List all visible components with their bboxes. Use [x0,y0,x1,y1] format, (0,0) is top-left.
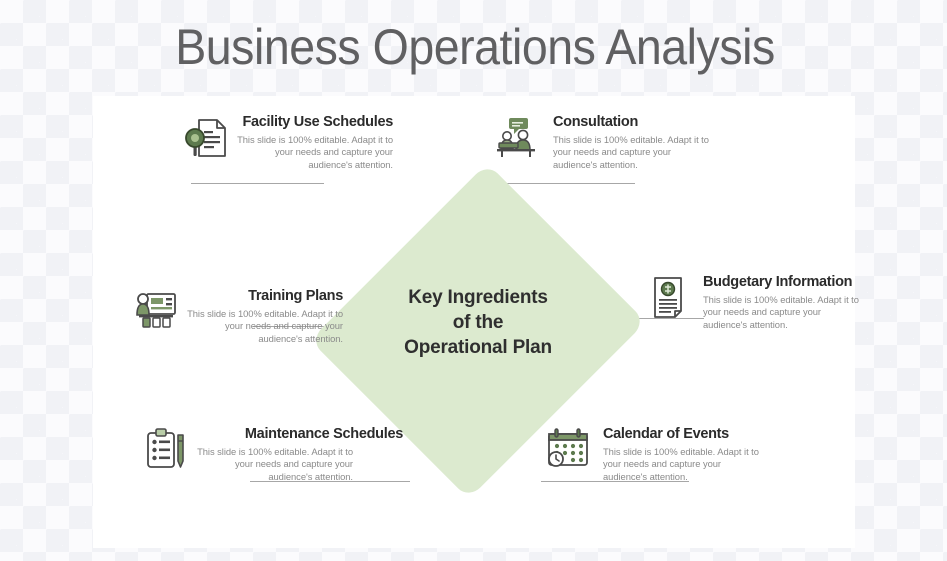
calendar-clock-icon [541,426,595,474]
node-text-block: Calendar of Events This slide is 100% ed… [603,426,763,483]
node-text-block: Budgetary Information This slide is 100%… [703,274,863,331]
slide-card: Key Ingredients of the Operational Plan … [93,96,855,548]
budget-document-icon [641,274,695,322]
document-search-icon [179,114,233,162]
diamond-label: Key Ingredients of the Operational Plan [335,285,621,360]
diamond-label-line-3: Operational Plan [335,335,621,360]
node-description: This slide is 100% editable. Adapt it to… [233,134,393,171]
node-budgetary-information[interactable]: Budgetary Information This slide is 100%… [641,274,863,331]
node-text-block: Facility Use Schedules This slide is 100… [233,114,393,171]
node-title: Consultation [553,114,713,131]
node-facility-use-schedules[interactable]: Facility Use Schedules This slide is 100… [171,114,393,171]
node-description: This slide is 100% editable. Adapt it to… [553,134,713,171]
connector-line-facility [191,183,324,184]
node-title: Maintenance Schedules [193,426,403,443]
node-title: Training Plans [183,288,343,305]
node-calendar-of-events[interactable]: Calendar of Events This slide is 100% ed… [541,426,763,483]
diamond-label-line-2: of the [335,310,621,335]
slide-canvas: Business Operations Analysis Key Ingredi… [0,0,947,561]
node-text-block: Maintenance Schedules This slide is 100%… [193,426,353,483]
node-description: This slide is 100% editable. Adapt it to… [193,446,353,483]
diamond-label-line-1: Key Ingredients [335,285,621,310]
page-title: Business Operations Analysis [122,12,829,82]
node-maintenance-schedules[interactable]: Maintenance Schedules This slide is 100%… [131,426,353,483]
node-text-block: Consultation This slide is 100% editable… [553,114,713,171]
people-meeting-icon [491,114,545,162]
node-text-block: Training Plans This slide is 100% editab… [183,288,343,345]
presentation-training-icon [129,288,183,336]
node-description: This slide is 100% editable. Adapt it to… [703,294,863,331]
node-title: Facility Use Schedules [233,114,393,131]
node-description: This slide is 100% editable. Adapt it to… [183,308,343,345]
node-title: Calendar of Events [603,426,763,443]
node-title: Budgetary Information [703,274,863,291]
node-training-plans[interactable]: Training Plans This slide is 100% editab… [121,288,343,345]
node-description: This slide is 100% editable. Adapt it to… [603,446,763,483]
node-consultation[interactable]: Consultation This slide is 100% editable… [491,114,713,171]
clipboard-pen-icon [139,426,193,474]
